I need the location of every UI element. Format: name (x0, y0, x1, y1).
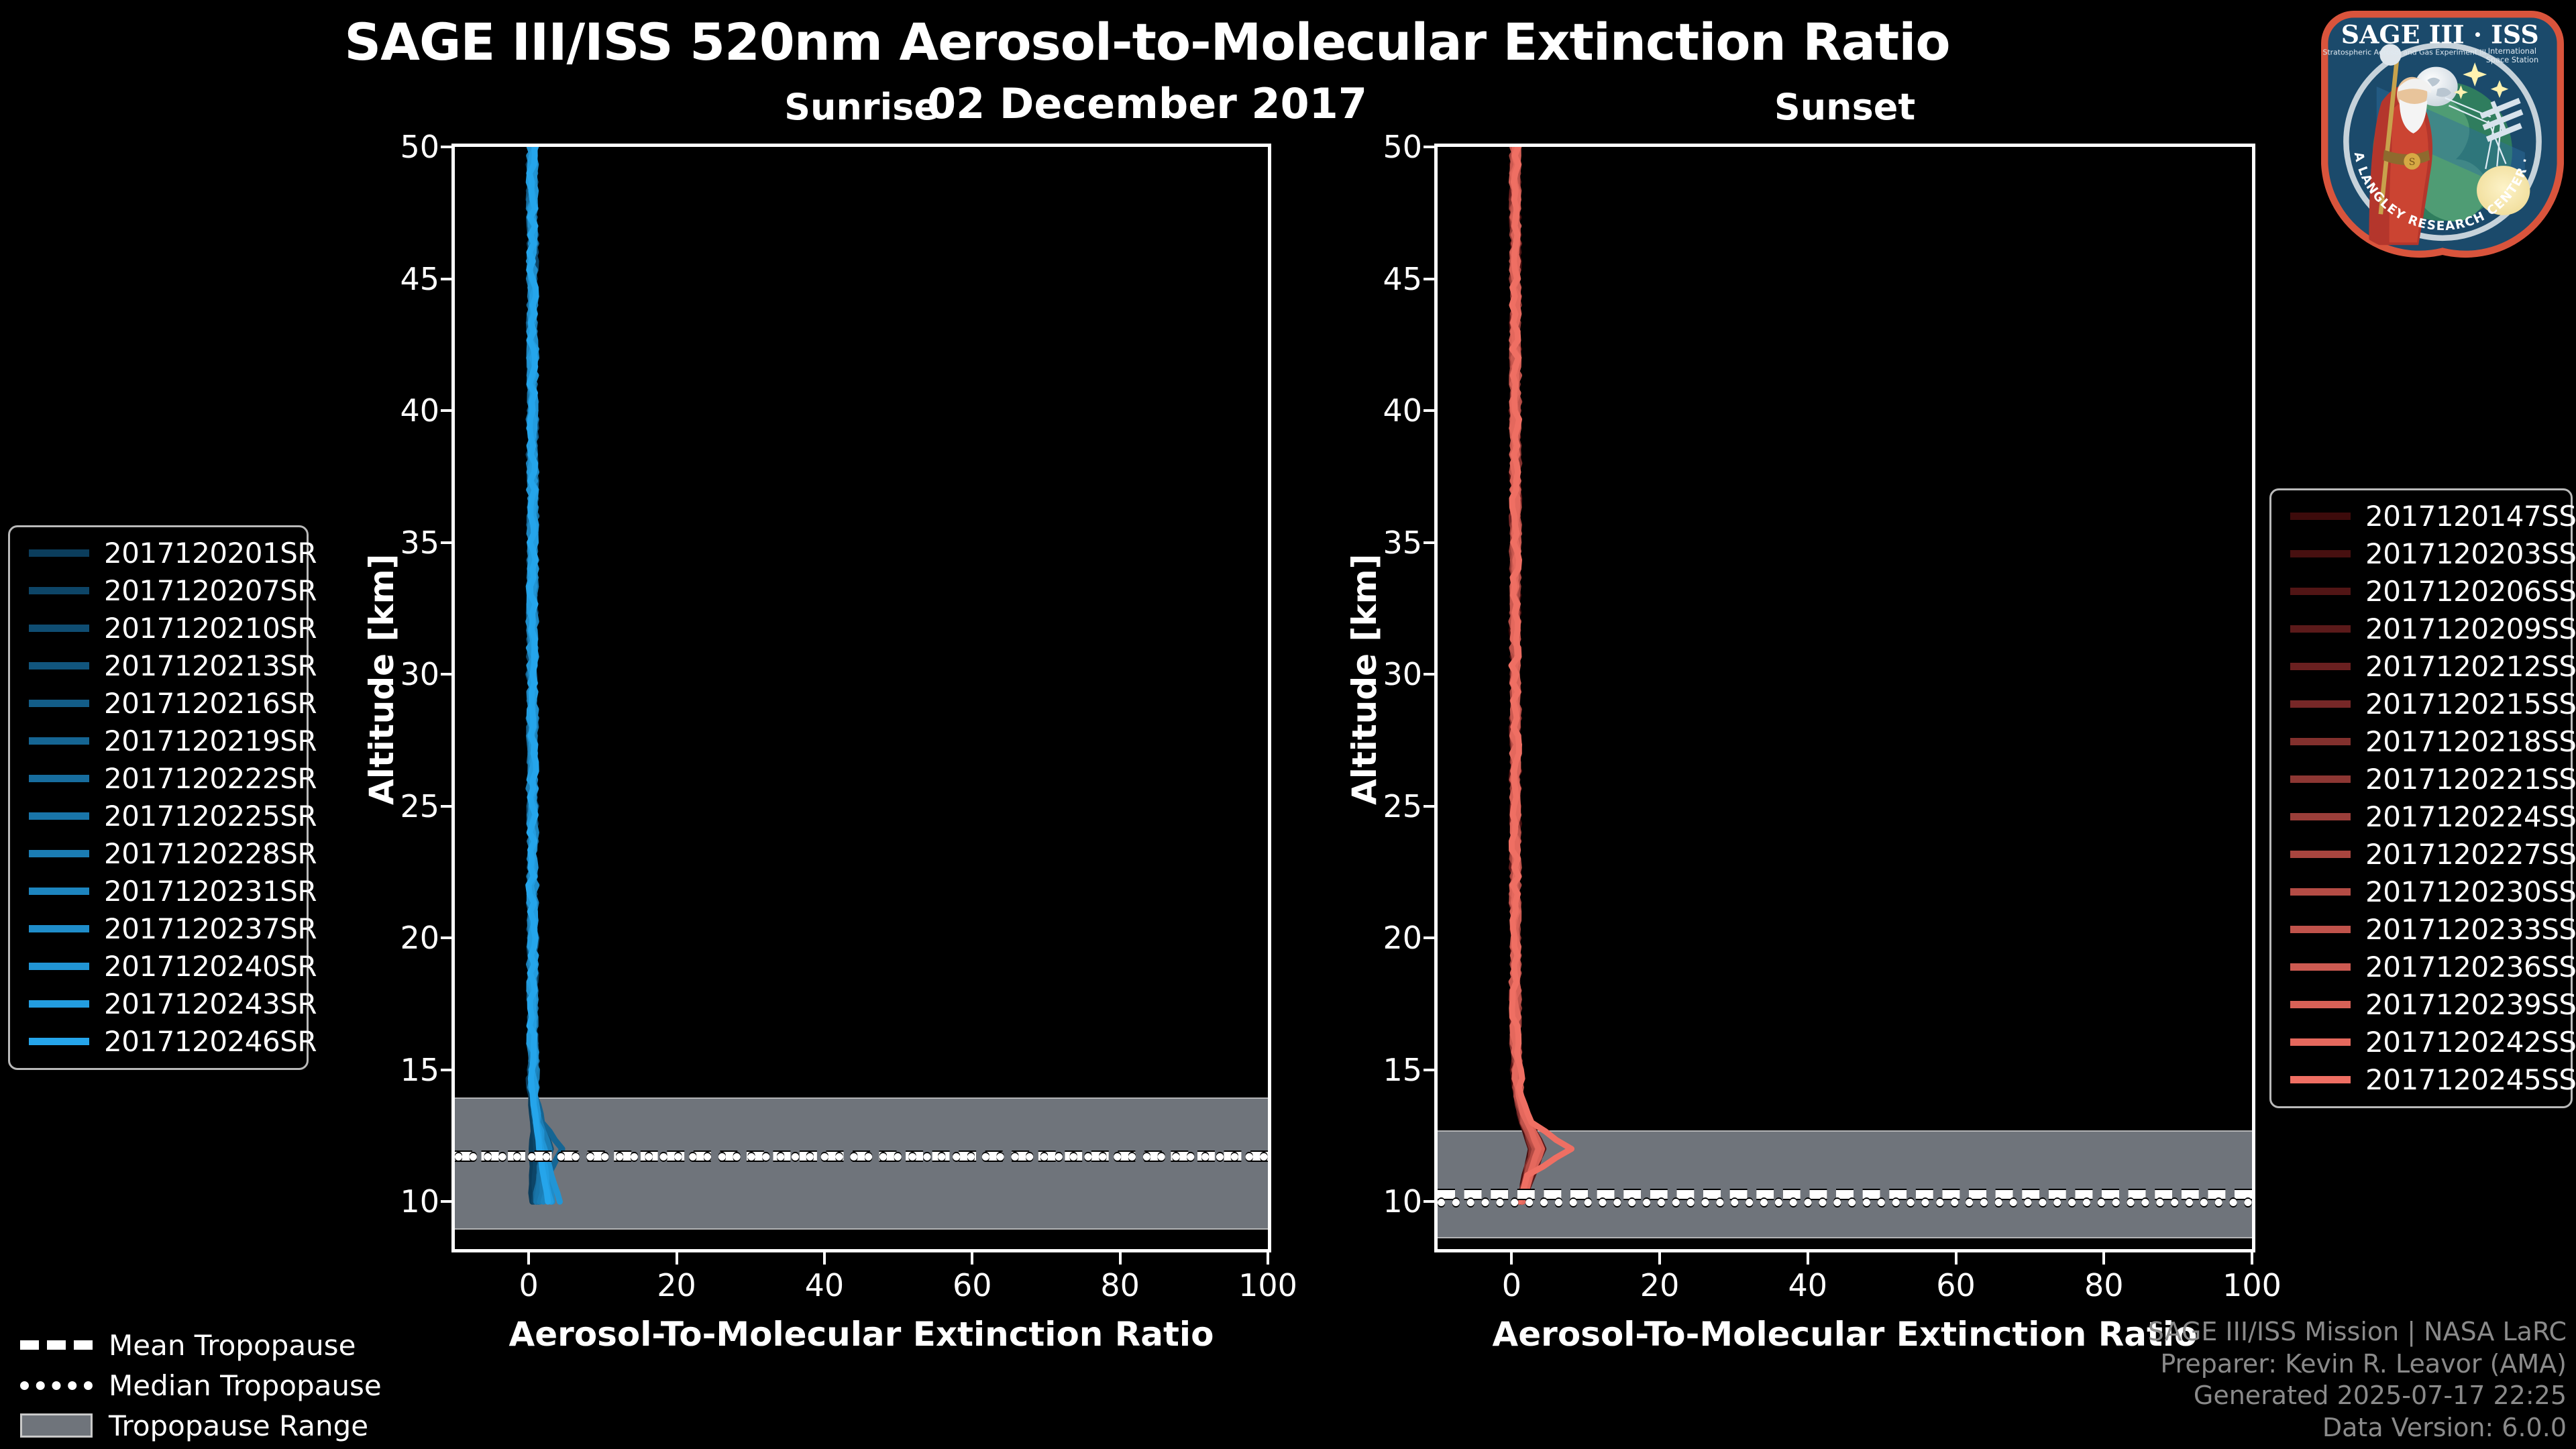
x-tick-mark (1658, 1252, 1661, 1265)
legend-color-swatch (2290, 550, 2351, 557)
legend-color-swatch (29, 549, 89, 557)
legend-label: 2017120147SS (2365, 500, 2576, 533)
legend-color-swatch (2290, 813, 2351, 820)
plot-area-sunrise (455, 147, 1268, 1249)
legend-item[interactable]: 2017120227SS (2284, 835, 2559, 873)
legend-color-swatch (2290, 625, 2351, 633)
svg-text:SAGE III · ISS: SAGE III · ISS (2341, 20, 2539, 50)
x-tick-mark (1807, 1252, 1809, 1265)
legend-label: 2017120215SS (2365, 688, 2576, 720)
y-tick-mark (441, 936, 453, 939)
legend-sunset[interactable]: 2017120147SS2017120203SS2017120206SS2017… (2269, 488, 2573, 1108)
x-tick-label: 0 (1444, 1267, 1578, 1303)
x-tick-mark (2251, 1252, 2253, 1265)
plot-sunset (1434, 144, 2255, 1252)
x-tick-label: 60 (1889, 1267, 2023, 1303)
legend-label: 2017120216SR (104, 687, 317, 720)
x-tick-label: 20 (610, 1267, 744, 1303)
legend-label: 2017120224SS (2365, 800, 2576, 833)
y-tick-mark (1424, 146, 1436, 148)
series-curves (455, 147, 1268, 1249)
x-tick-label: 0 (462, 1267, 596, 1303)
legend-label: 2017120221SS (2365, 763, 2576, 796)
x-tick-label: 40 (1741, 1267, 1875, 1303)
legend-color-swatch (2290, 738, 2351, 745)
legend-item[interactable]: 2017120203SS (2284, 535, 2559, 572)
legend-item[interactable]: 2017120224SS (2284, 798, 2559, 835)
y-tick-label: 45 (1322, 261, 1422, 297)
y-axis-label-sunrise: Altitude [km] (362, 553, 401, 805)
y-tick-label: 40 (1322, 392, 1422, 429)
legend-label: 2017120233SS (2365, 913, 2576, 946)
legend-item-tropopause-range: Tropopause Range (20, 1405, 423, 1446)
x-tick-mark (971, 1252, 973, 1265)
legend-color-swatch (29, 700, 89, 707)
x-tick-label: 100 (1201, 1267, 1335, 1303)
mean-tropopause-line (1438, 1190, 2252, 1199)
plot-sunrise (451, 144, 1271, 1252)
credits-mission: SAGE III/ISS Mission | NASA LaRC (2148, 1316, 2567, 1348)
legend-item[interactable]: 2017120228SR (22, 835, 294, 872)
legend-color-swatch (29, 625, 89, 632)
y-tick-mark (441, 146, 453, 148)
y-tick-mark (441, 673, 453, 676)
chart-page: SAGE III/ISS 520nm Aerosol-to-Molecular … (0, 0, 2576, 1449)
legend-label: 2017120206SS (2365, 575, 2576, 608)
legend-item[interactable]: 2017120246SR (22, 1022, 294, 1060)
series-curves (1438, 147, 2252, 1249)
legend-color-swatch (2290, 1038, 2351, 1046)
x-tick-label: 100 (2185, 1267, 2319, 1303)
legend-color-swatch (2290, 1076, 2351, 1083)
y-tick-mark (441, 805, 453, 808)
median-tropopause-line (455, 1153, 1268, 1161)
legend-color-swatch (2290, 963, 2351, 971)
legend-color-swatch (29, 963, 89, 970)
y-tick-mark (441, 278, 453, 280)
dashed-line-icon (20, 1340, 93, 1350)
y-tick-label: 15 (339, 1052, 439, 1088)
tropopause-legend: Mean Tropopause Median Tropopause Tropop… (20, 1325, 423, 1446)
legend-color-swatch (29, 888, 89, 895)
y-axis-label-sunset: Altitude [km] (1345, 553, 1384, 805)
legend-color-swatch (29, 662, 89, 669)
legend-label: 2017120237SR (104, 912, 317, 945)
x-axis-label-sunrise: Aerosol-To-Molecular Extinction Ratio (451, 1315, 1271, 1354)
legend-item[interactable]: 2017120219SR (22, 722, 294, 759)
legend-color-swatch (29, 587, 89, 594)
legend-item[interactable]: 2017120236SS (2284, 948, 2559, 985)
legend-sunrise[interactable]: 2017120201SR2017120207SR2017120210SR2017… (8, 525, 309, 1070)
y-tick-label: 10 (1322, 1183, 1422, 1220)
legend-label: 2017120230SS (2365, 875, 2576, 908)
legend-color-swatch (29, 812, 89, 820)
credits-block: SAGE III/ISS Mission | NASA LaRC Prepare… (2148, 1316, 2567, 1444)
x-tick-mark (823, 1252, 826, 1265)
legend-label: 2017120239SS (2365, 988, 2576, 1021)
sage-iii-iss-logo-icon: S SAGE III · ISS Stratospheric Aerosol a… (2316, 5, 2569, 259)
legend-color-swatch (2290, 851, 2351, 858)
legend-label-tropopause-range: Tropopause Range (109, 1409, 368, 1442)
y-tick-mark (441, 1069, 453, 1071)
x-tick-mark (1119, 1252, 1122, 1265)
legend-label: 2017120207SR (104, 574, 317, 607)
legend-label: 2017120228SR (104, 837, 317, 870)
plot-area-sunset (1438, 147, 2252, 1249)
legend-item[interactable]: 2017120212SS (2284, 647, 2559, 685)
legend-item[interactable]: 2017120206SS (2284, 572, 2559, 610)
page-title: SAGE III/ISS 520nm Aerosol-to-Molecular … (0, 12, 2294, 72)
legend-item[interactable]: 2017120213SR (22, 647, 294, 684)
legend-item[interactable]: 2017120230SS (2284, 873, 2559, 910)
legend-label: 2017120236SS (2365, 951, 2576, 983)
shaded-patch-icon (20, 1413, 93, 1438)
svg-text:Space Station: Space Station (2486, 55, 2538, 64)
legend-label: 2017120225SR (104, 800, 317, 833)
svg-text:S: S (2409, 157, 2416, 168)
x-axis-label-sunset: Aerosol-To-Molecular Extinction Ratio (1434, 1315, 2255, 1354)
legend-label: 2017120245SS (2365, 1063, 2576, 1096)
legend-color-swatch (2290, 926, 2351, 933)
x-tick-label: 60 (905, 1267, 1039, 1303)
legend-item[interactable]: 2017120243SR (22, 985, 294, 1022)
legend-color-swatch (29, 1000, 89, 1008)
legend-label: 2017120243SR (104, 987, 317, 1020)
credits-data-version: Data Version: 6.0.0 (2148, 1412, 2567, 1444)
legend-label: 2017120218SS (2365, 725, 2576, 758)
legend-label: 2017120231SR (104, 875, 317, 908)
y-tick-mark (441, 1200, 453, 1203)
legend-item-median-tropopause: Median Tropopause (20, 1365, 423, 1405)
legend-item[interactable]: 2017120215SS (2284, 685, 2559, 722)
dotted-line-icon (20, 1381, 93, 1390)
y-tick-mark (441, 541, 453, 544)
legend-color-swatch (29, 850, 89, 857)
legend-color-swatch (29, 737, 89, 745)
legend-item[interactable]: 2017120233SS (2284, 910, 2559, 948)
x-tick-mark (2102, 1252, 2105, 1265)
legend-label: 2017120213SR (104, 649, 317, 682)
y-tick-label: 10 (339, 1183, 439, 1220)
y-tick-mark (1424, 936, 1436, 939)
legend-label: 2017120210SR (104, 612, 317, 645)
credits-preparer: Preparer: Kevin R. Leavor (AMA) (2148, 1348, 2567, 1381)
legend-label: 2017120242SS (2365, 1026, 2576, 1059)
legend-item[interactable]: 2017120209SS (2284, 610, 2559, 647)
legend-label: 2017120222SR (104, 762, 317, 795)
x-tick-label: 20 (1593, 1267, 1727, 1303)
legend-color-swatch (2290, 775, 2351, 783)
legend-color-swatch (2290, 588, 2351, 595)
y-tick-mark (1424, 541, 1436, 544)
legend-item[interactable]: 2017120225SR (22, 797, 294, 835)
panel-title-sunrise: Sunrise (451, 86, 1271, 128)
x-tick-mark (1955, 1252, 1957, 1265)
legend-label-mean-tropopause: Mean Tropopause (109, 1329, 356, 1362)
x-tick-mark (1510, 1252, 1513, 1265)
legend-item[interactable]: 2017120231SR (22, 872, 294, 910)
legend-color-swatch (2290, 1001, 2351, 1008)
legend-label: 2017120219SR (104, 724, 317, 757)
legend-label: 2017120203SS (2365, 537, 2576, 570)
legend-item[interactable]: 2017120201SR (22, 534, 294, 572)
y-tick-mark (1424, 409, 1436, 412)
legend-color-swatch (2290, 663, 2351, 670)
legend-label-median-tropopause: Median Tropopause (109, 1369, 382, 1402)
y-tick-label: 50 (1322, 129, 1422, 165)
y-tick-label: 45 (339, 261, 439, 297)
legend-item[interactable]: 2017120221SS (2284, 760, 2559, 798)
legend-label: 2017120201SR (104, 537, 317, 570)
legend-label: 2017120240SR (104, 950, 317, 983)
legend-item[interactable]: 2017120147SS (2284, 497, 2559, 535)
y-tick-label: 40 (339, 392, 439, 429)
legend-item[interactable]: 2017120240SR (22, 947, 294, 985)
legend-color-swatch (2290, 888, 2351, 896)
svg-text:Stratospheric Aerosol and Gas: Stratospheric Aerosol and Gas Experiment… (2322, 48, 2486, 57)
credits-generated: Generated 2025-07-17 22:25 (2148, 1380, 2567, 1412)
legend-item[interactable]: 2017120237SR (22, 910, 294, 947)
y-tick-mark (1424, 673, 1436, 676)
legend-item[interactable]: 2017120210SR (22, 609, 294, 647)
legend-item[interactable]: 2017120242SS (2284, 1023, 2559, 1061)
y-tick-label: 20 (339, 920, 439, 956)
legend-item[interactable]: 2017120216SR (22, 684, 294, 722)
y-tick-label: 50 (339, 129, 439, 165)
y-tick-label: 20 (1322, 920, 1422, 956)
legend-color-swatch (2290, 513, 2351, 520)
legend-label: 2017120212SS (2365, 650, 2576, 683)
y-tick-mark (1424, 1200, 1436, 1203)
legend-item[interactable]: 2017120218SS (2284, 722, 2559, 760)
legend-color-swatch (29, 775, 89, 782)
y-tick-mark (1424, 278, 1436, 280)
legend-label: 2017120209SS (2365, 612, 2576, 645)
legend-color-swatch (2290, 700, 2351, 708)
x-tick-mark (676, 1252, 678, 1265)
legend-color-swatch (29, 925, 89, 932)
legend-color-swatch (29, 1038, 89, 1045)
legend-item-mean-tropopause: Mean Tropopause (20, 1325, 423, 1365)
y-tick-mark (441, 409, 453, 412)
x-tick-label: 80 (2037, 1267, 2171, 1303)
legend-item[interactable]: 2017120245SS (2284, 1061, 2559, 1098)
y-tick-mark (1424, 805, 1436, 808)
panel-title-sunset: Sunset (1434, 86, 2255, 128)
legend-item[interactable]: 2017120222SR (22, 759, 294, 797)
x-tick-mark (1267, 1252, 1269, 1265)
x-tick-label: 40 (757, 1267, 892, 1303)
x-tick-mark (527, 1252, 530, 1265)
y-tick-mark (1424, 1069, 1436, 1071)
y-tick-label: 15 (1322, 1052, 1422, 1088)
svg-text:International: International (2488, 46, 2536, 56)
legend-label: 2017120246SR (104, 1025, 317, 1058)
median-tropopause-line (1438, 1199, 2252, 1206)
legend-label: 2017120227SS (2365, 838, 2576, 871)
legend-item[interactable]: 2017120207SR (22, 572, 294, 609)
x-tick-label: 80 (1053, 1267, 1187, 1303)
legend-item[interactable]: 2017120239SS (2284, 985, 2559, 1023)
